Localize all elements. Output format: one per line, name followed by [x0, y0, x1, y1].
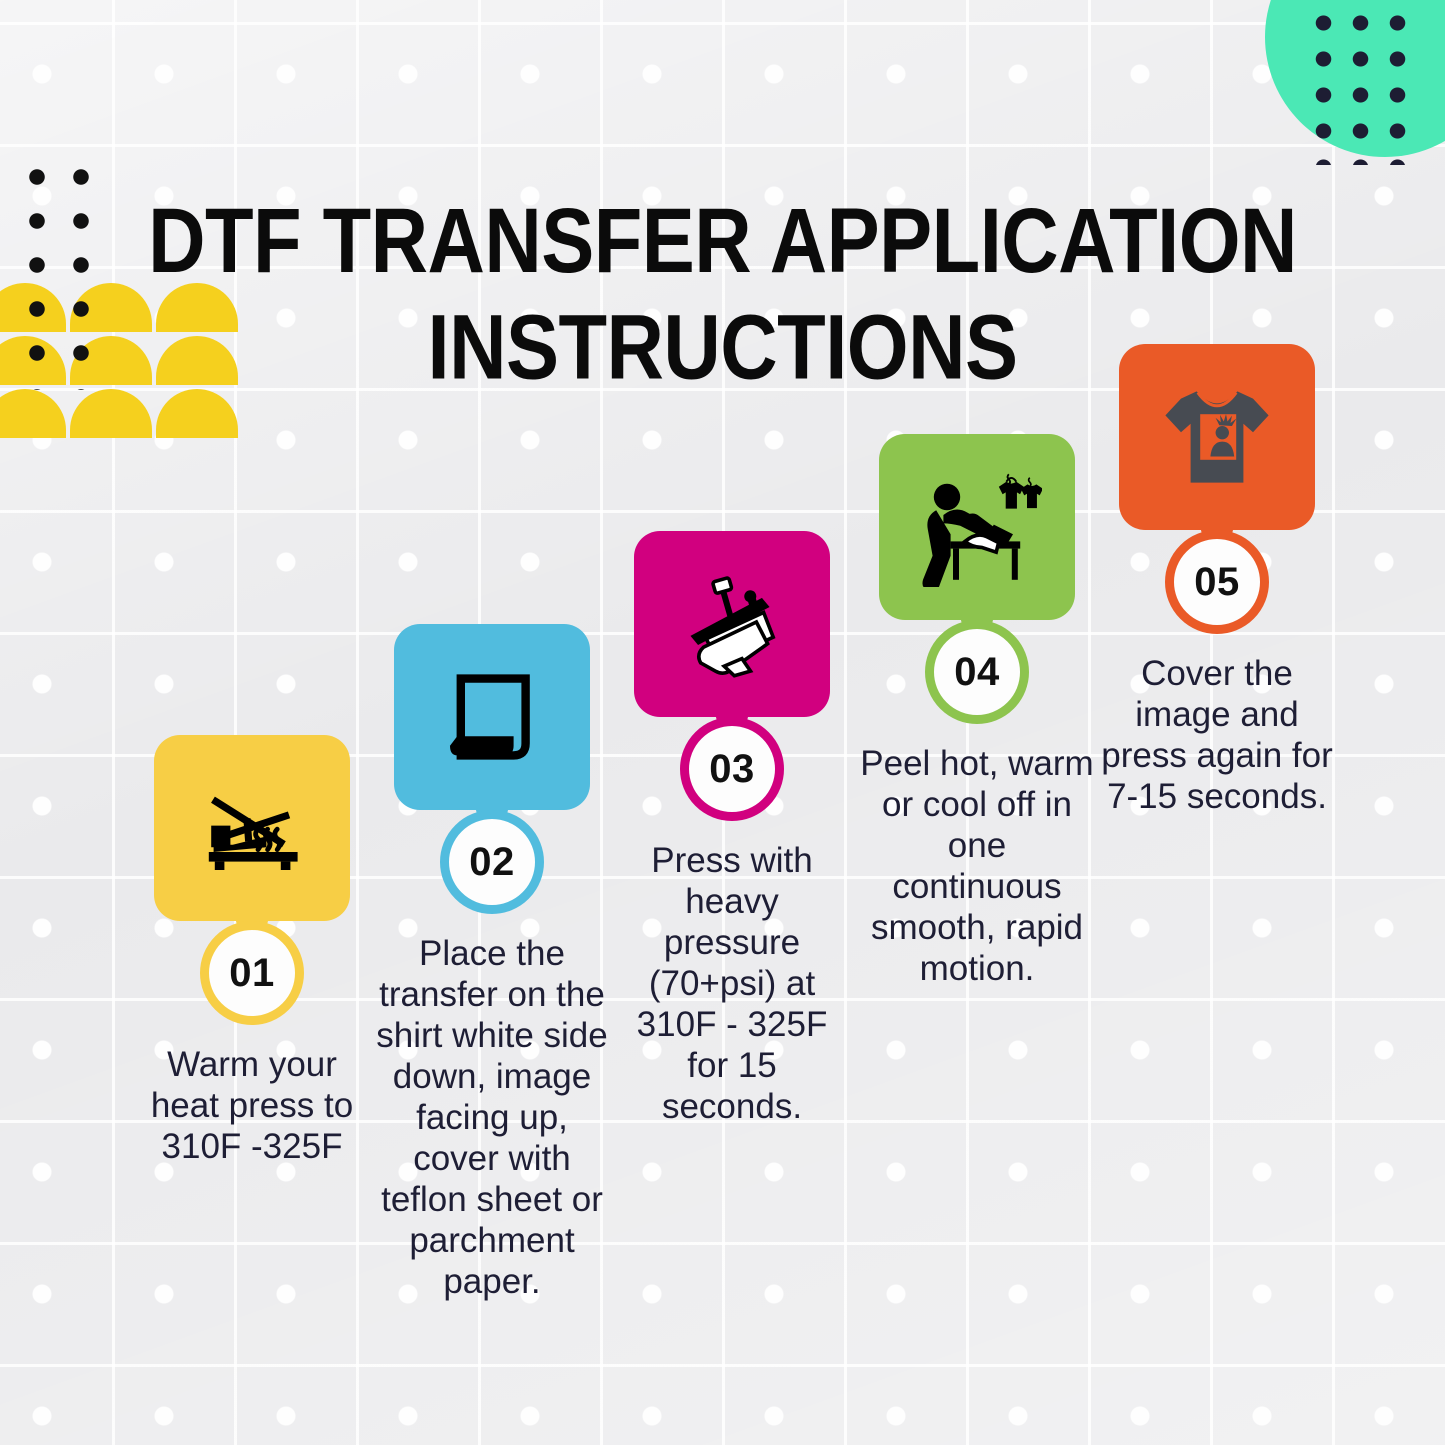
heat-press-machine-icon	[667, 564, 797, 684]
printed-tshirt-icon	[1152, 377, 1282, 497]
step-02-icon-card[interactable]	[394, 624, 590, 810]
step-03-caption: Press with heavy pressure (70+psi) at 31…	[607, 841, 857, 1128]
step-01-badge[interactable]: 01	[200, 921, 304, 1025]
step-05-caption: Cover the image and press again for 7-15…	[1092, 654, 1342, 818]
steps-container: 01Warm your heat press to 310F -325F 02P…	[0, 0, 1445, 1445]
step-04-number: 04	[954, 650, 1000, 695]
step-02-number: 02	[469, 840, 515, 885]
step-05-badge[interactable]: 05	[1165, 530, 1269, 634]
transfer-sheet-icon	[427, 657, 557, 777]
step-05: 05Cover the image and press again for 7-…	[1092, 344, 1342, 818]
step-03-number: 03	[709, 747, 755, 792]
step-04-icon-card[interactable]	[879, 434, 1075, 620]
person-peeling-transfer-icon	[912, 467, 1042, 587]
step-04: 04Peel hot, warm or cool off in one cont…	[852, 434, 1102, 990]
step-05-icon-card[interactable]	[1119, 344, 1315, 530]
step-01-number: 01	[229, 951, 275, 996]
step-01-icon-card[interactable]	[154, 735, 350, 921]
heat-press-open-icon	[187, 768, 317, 888]
step-02: 02Place the transfer on the shirt white …	[367, 624, 617, 1302]
step-04-badge[interactable]: 04	[925, 620, 1029, 724]
step-05-number: 05	[1194, 560, 1240, 605]
step-01: 01Warm your heat press to 310F -325F	[127, 735, 377, 1168]
step-02-caption: Place the transfer on the shirt white si…	[367, 934, 617, 1302]
step-03-icon-card[interactable]	[634, 531, 830, 717]
step-03-badge[interactable]: 03	[680, 717, 784, 821]
step-02-badge[interactable]: 02	[440, 810, 544, 914]
step-01-caption: Warm your heat press to 310F -325F	[127, 1045, 377, 1168]
step-03: 03Press with heavy pressure (70+psi) at …	[607, 531, 857, 1128]
step-04-caption: Peel hot, warm or cool off in one contin…	[852, 744, 1102, 990]
